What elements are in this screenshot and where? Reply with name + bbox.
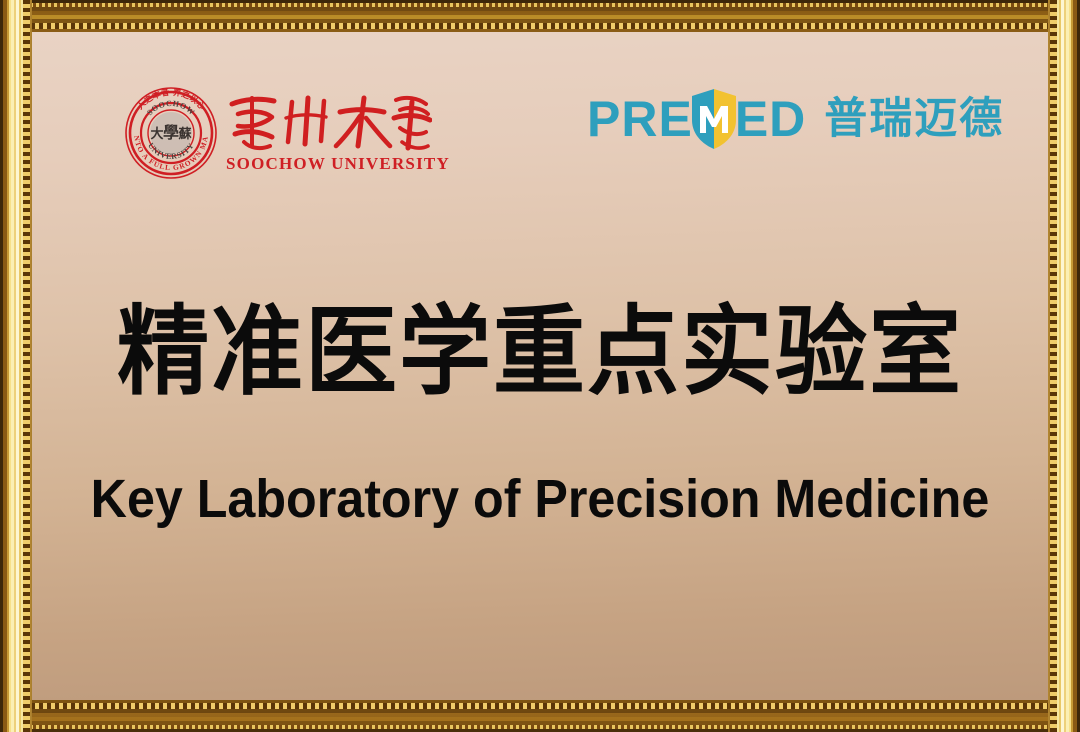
soochow-english-name: SOOCHOW UNIVERSITY <box>226 154 450 174</box>
svg-text:大: 大 <box>150 126 163 142</box>
frame-lip-right <box>1048 0 1050 732</box>
soochow-seal-icon: 人之本者 养之以心 UNTO A FULL GROWN MAN SOOCHOW … <box>124 86 218 180</box>
premed-logo: PRE ED 普瑞迈德 <box>587 88 1004 150</box>
soochow-wordmark: SOOCHOW UNIVERSITY <box>226 84 450 174</box>
svg-text:蘇: 蘇 <box>177 126 192 142</box>
frame-bead-right <box>1050 0 1057 732</box>
premed-shield-icon <box>691 88 737 150</box>
page-title-chinese: 精准医学重点实验室 <box>32 304 1048 402</box>
page-title-english: Key Laboratory of Precision Medicine <box>68 472 1013 526</box>
plaque-canvas: 人之本者 养之以心 UNTO A FULL GROWN MAN SOOCHOW … <box>32 32 1048 700</box>
frame-bead-left <box>23 0 30 732</box>
soochow-university-logo: 人之本者 养之以心 UNTO A FULL GROWN MAN SOOCHOW … <box>124 84 450 180</box>
soochow-calligraphy-icon <box>226 84 432 156</box>
plaque: 人之本者 养之以心 UNTO A FULL GROWN MAN SOOCHOW … <box>0 0 1080 732</box>
premed-prefix: PRE <box>587 94 693 144</box>
premed-chinese-name: 普瑞迈德 <box>824 98 1004 141</box>
premed-suffix: ED <box>735 94 806 144</box>
svg-text:學: 學 <box>163 123 179 142</box>
logo-row: 人之本者 养之以心 UNTO A FULL GROWN MAN SOOCHOW … <box>32 84 1048 204</box>
